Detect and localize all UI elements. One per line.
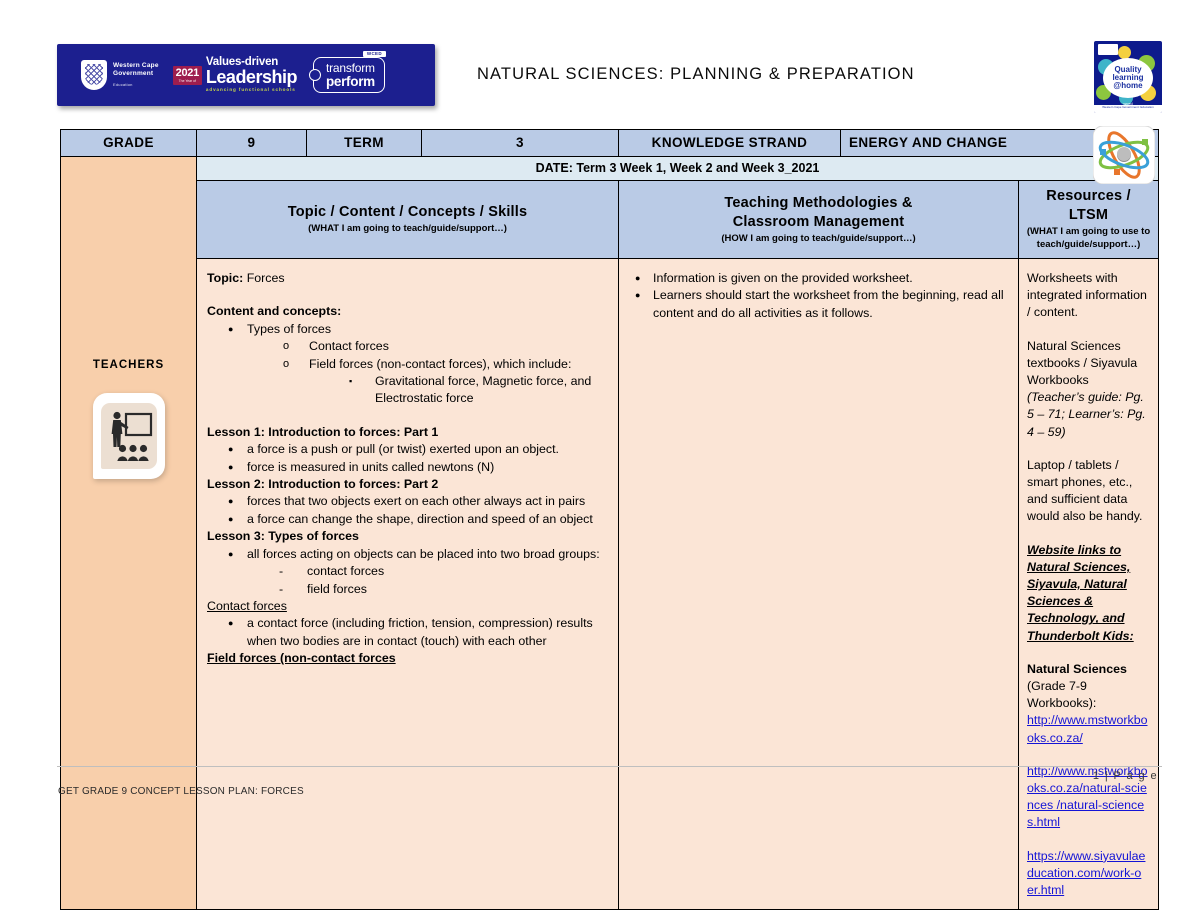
column-header-resources-title: Resources / LTSM: [1025, 187, 1152, 225]
qlh-footer-text: Western Cape Government: Education: [1094, 105, 1162, 113]
list-item: Contact forces: [283, 338, 608, 355]
values-text: Values-driven Leadership advancing funct…: [206, 57, 297, 92]
page-header: Western Cape Government Education 2021 T…: [57, 44, 1162, 114]
western-cape-government-text: Western Cape Government Education: [113, 62, 159, 89]
lesson-3-sublist: contact forces field forces: [247, 563, 608, 598]
values-line-2: Leadership: [206, 68, 297, 86]
column-header-methodology-line1: Teaching Methodologies &: [625, 194, 1012, 213]
transform-line-1: transform: [326, 62, 375, 74]
list-item: contact forces: [279, 563, 608, 580]
wced-banner-logo: Western Cape Government Education 2021 T…: [57, 44, 435, 106]
methodology-bullet-1: Information is given on the provided wor…: [653, 271, 913, 285]
field-forces-detail-text: Gravitational force, Magnetic force, and…: [375, 374, 591, 405]
resources-paragraph-3: Laptop / tablets / smart phones, etc., a…: [1027, 457, 1148, 526]
lesson-3-sub-1: contact forces: [307, 564, 384, 578]
content-and-concepts-heading: Content and concepts:: [207, 303, 608, 320]
list-item: a force can change the shape, direction …: [228, 511, 608, 528]
column-header-resources-subtitle-1: (WHAT I am going to use to: [1025, 226, 1152, 238]
resources-paragraph-1: Worksheets with integrated information /…: [1027, 270, 1148, 322]
footer-document-label: GET GRADE 9 CONCEPT LESSON PLAN: FORCES: [58, 786, 304, 797]
spacer: [1027, 832, 1148, 848]
page-number: 1 | P a g e: [1093, 770, 1158, 782]
grade-value-cell: 9: [197, 130, 307, 157]
natural-sciences-label-line: Natural Sciences (Grade 7-9 Workbooks):: [1027, 661, 1148, 713]
contact-forces-heading: Contact forces: [207, 598, 608, 615]
natural-sciences-label: Natural Sciences: [1027, 662, 1127, 676]
qlh-line-3: @home: [1113, 82, 1142, 90]
table-row-date: TEACHERS: [61, 157, 1159, 181]
column-header-methodology-subtitle: (HOW I am going to teach/guide/support…): [625, 233, 1012, 245]
spacer: [1027, 441, 1148, 457]
methodology-bullet-2: Learners should start the worksheet from…: [653, 288, 1004, 319]
column-header-topic-subtitle: (WHAT I am going to teach/guide/support……: [203, 223, 612, 235]
list-item: all forces acting on objects can be plac…: [228, 546, 608, 598]
lesson-2-heading: Lesson 2: Introduction to forces: Part 2: [207, 476, 608, 493]
knowledge-strand-label-cell: KNOWLEDGE STRAND: [619, 130, 841, 157]
teacher-presenting-icon: [93, 393, 165, 479]
forces-sublist: Contact forces Field forces (non-contact…: [247, 338, 608, 408]
knowledge-strand-value: ENERGY AND CHANGE: [849, 135, 1007, 150]
field-forces-sublist: Gravitational force, Magnetic force, and…: [309, 373, 608, 408]
values-driven-leadership-logo: 2021 The Year of Values-driven Leadershi…: [173, 57, 297, 92]
methodology-cell: Information is given on the provided wor…: [619, 259, 1019, 910]
list-item: a force is a push or pull (or twist) exe…: [228, 441, 608, 458]
lesson-2-bullet-1: forces that two objects exert on each ot…: [247, 494, 585, 508]
table-row-column-headers: Topic / Content / Concepts / Skills (WHA…: [61, 181, 1159, 259]
teachers-label: TEACHERS: [61, 359, 196, 371]
atom-icon: [1093, 126, 1155, 184]
resource-link-3[interactable]: https://www.siyavulaeducation.com/work-o…: [1027, 848, 1148, 900]
quality-learning-at-home-logo: Quality learning @home wced Western Cape…: [1094, 41, 1162, 113]
western-cape-government-logo: Western Cape Government Education: [57, 60, 159, 90]
spacer: [1027, 747, 1148, 763]
field-forces-heading: Field forces (non-contact forces: [207, 650, 608, 667]
lesson-1-heading: Lesson 1: Introduction to forces: Part 1: [207, 424, 608, 441]
column-header-methodology-line2: Classroom Management: [625, 213, 1012, 232]
list-item: forces that two objects exert on each ot…: [228, 493, 608, 510]
list-item: force is measured in units called newton…: [228, 459, 608, 476]
list-item: Information is given on the provided wor…: [633, 270, 1008, 287]
footer-divider: [57, 766, 1162, 767]
lesson-2-list: forces that two objects exert on each ot…: [207, 493, 608, 528]
field-forces-text: Field forces (non-contact forces), which…: [309, 357, 571, 371]
grade-label-cell: GRADE: [61, 130, 197, 157]
list-item: Gravitational force, Magnetic force, and…: [349, 373, 608, 408]
natural-sciences-suffix: (Grade 7-9 Workbooks):: [1027, 679, 1096, 710]
resource-link-1[interactable]: http://www.mstworkbooks.co.za/: [1027, 712, 1148, 746]
page-title: NATURAL SCIENCES: PLANNING & PREPARATION: [477, 65, 915, 84]
topic-content-cell: Topic: Forces Content and concepts: Type…: [197, 259, 619, 910]
quality-learning-text: Quality learning @home: [1103, 58, 1153, 98]
year-value: 2021: [176, 68, 199, 79]
lesson-3-bullet-1: all forces acting on objects can be plac…: [247, 547, 600, 561]
list-item: a contact force (including friction, ten…: [228, 615, 608, 650]
coat-of-arms-icon: [81, 60, 107, 90]
topic-line: Topic: Forces: [207, 270, 608, 287]
contact-forces-text: Contact forces: [309, 339, 389, 353]
spacer: [207, 287, 608, 303]
teacher-presenting-glyph: [101, 403, 157, 469]
contact-forces-bullet-1: a contact force (including friction, ten…: [247, 616, 593, 647]
wced-badge-icon: [1098, 44, 1118, 55]
column-header-resources-subtitle-2: teach/guide/support…): [1025, 239, 1152, 251]
lesson-2-bullet-2: a force can change the shape, direction …: [247, 512, 593, 526]
document-page: Western Cape Government Education 2021 T…: [0, 0, 1200, 849]
lesson-1-bullet-1: a force is a push or pull (or twist) exe…: [247, 442, 559, 456]
column-header-methodology: Teaching Methodologies & Classroom Manag…: [619, 181, 1019, 259]
gov-department: Education: [113, 81, 159, 89]
content-bullet-list: Types of forces Contact forces Field for…: [207, 321, 608, 408]
column-header-topic: Topic / Content / Concepts / Skills (WHA…: [197, 181, 619, 259]
spacer: [1027, 526, 1148, 542]
spacer: [207, 408, 608, 424]
spacer: [1027, 645, 1148, 661]
types-of-forces-text: Types of forces: [247, 322, 331, 336]
list-item: Types of forces Contact forces Field for…: [228, 321, 608, 408]
table-row-meta: GRADE 9 TERM 3 KNOWLEDGE STRAND ENERGY A…: [61, 130, 1159, 157]
term-value-cell: 3: [422, 130, 619, 157]
methodology-bullet-list: Information is given on the provided wor…: [629, 270, 1008, 322]
transform-perform-logo: WCED transform perform: [313, 57, 385, 94]
contact-forces-list: a contact force (including friction, ten…: [207, 615, 608, 650]
topic-value: Forces: [247, 271, 285, 285]
year-badge: 2021 The Year of: [173, 66, 202, 85]
transform-tag: WCED: [363, 51, 386, 58]
resources-paragraph-2: Natural Sciences textbooks / Siyavula Wo…: [1027, 338, 1148, 390]
deco-dot: [1118, 46, 1131, 59]
date-row-cell: DATE: Term 3 Week 1, Week 2 and Week 3_2…: [197, 157, 1159, 181]
transform-line-2: perform: [326, 75, 375, 89]
year-sub: The Year of: [176, 79, 199, 83]
list-item: Field forces (non-contact forces), which…: [283, 356, 608, 408]
list-item: Learners should start the worksheet from…: [633, 287, 1008, 322]
gov-line-2: Government: [113, 70, 153, 77]
topic-label: Topic:: [207, 271, 243, 285]
term-label-cell: TERM: [307, 130, 422, 157]
gov-line-1: Western Cape: [113, 62, 159, 69]
lesson-1-bullet-2: force is measured in units called newton…: [247, 460, 494, 474]
lesson-1-list: a force is a push or pull (or twist) exe…: [207, 441, 608, 476]
resources-paragraph-2-italic: (Teacher’s guide: Pg. 5 – 71; Learner’s:…: [1027, 389, 1148, 441]
column-header-topic-title: Topic / Content / Concepts / Skills: [203, 203, 612, 222]
list-item: field forces: [279, 581, 608, 598]
column-header-resources: Resources / LTSM (WHAT I am going to use…: [1019, 181, 1159, 259]
values-tagline: advancing functional schools: [206, 88, 297, 93]
resources-cell: Worksheets with integrated information /…: [1019, 259, 1159, 910]
spacer: [1027, 322, 1148, 338]
website-links-heading: Website links to Natural Sciences, Siyav…: [1027, 542, 1148, 645]
lesson-3-sub-2: field forces: [307, 582, 367, 596]
lesson-3-heading: Lesson 3: Types of forces: [207, 528, 608, 545]
lesson-3-list: all forces acting on objects can be plac…: [207, 546, 608, 598]
transform-dot-icon: [309, 69, 321, 81]
table-row-body: Topic: Forces Content and concepts: Type…: [61, 259, 1159, 910]
